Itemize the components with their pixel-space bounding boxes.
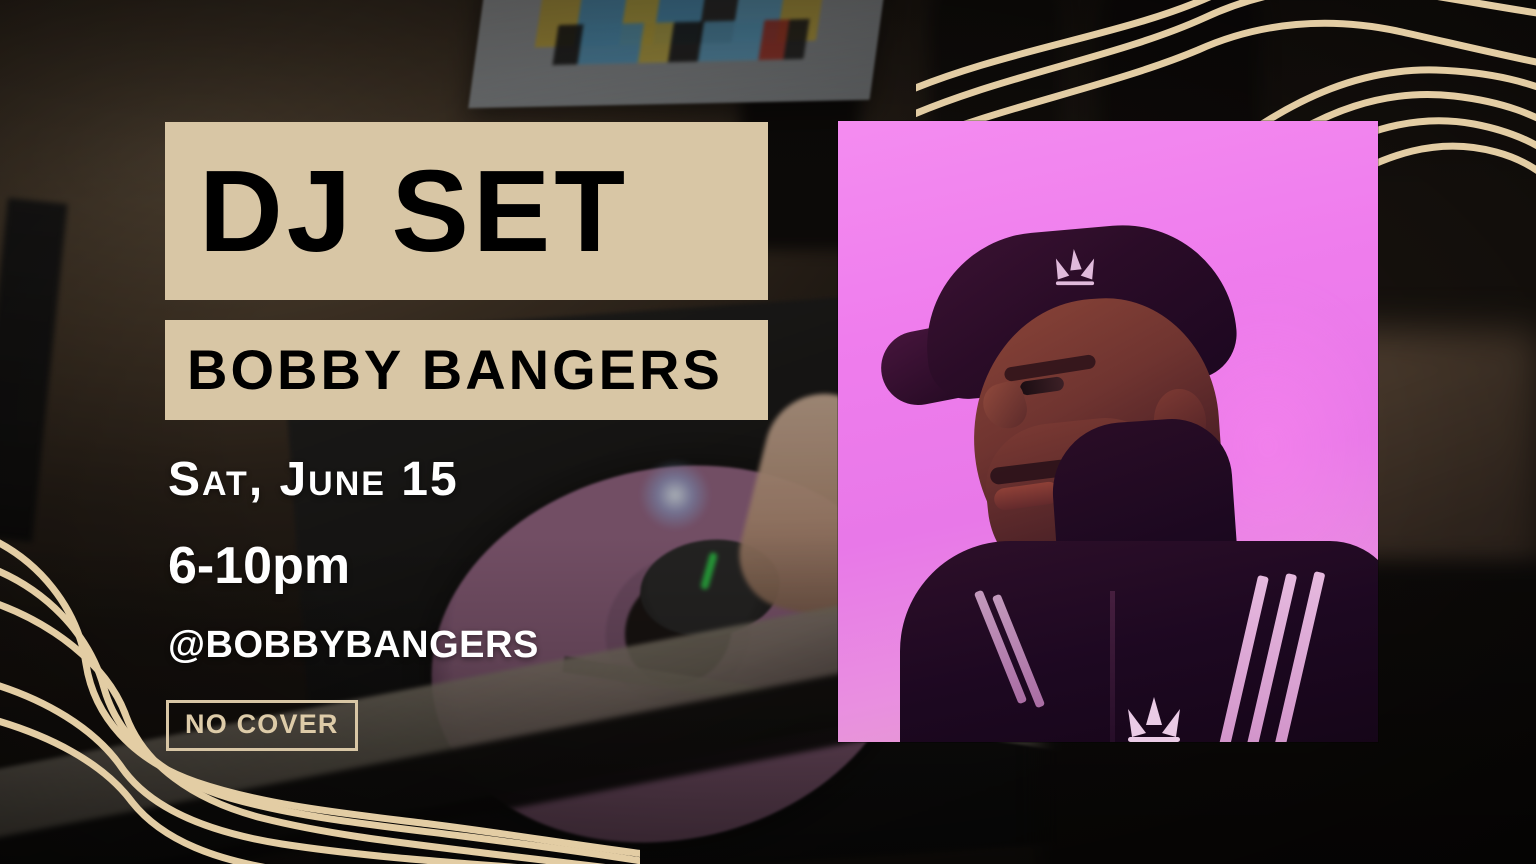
event-time: 6-10pm [168, 536, 350, 596]
dj-portrait-photo: adidas [838, 121, 1378, 742]
artist-name: BOBBY BANGERS [165, 342, 723, 398]
trefoil-logo-icon [1118, 695, 1190, 742]
brand-wordmark: adidas [1120, 741, 1210, 742]
trefoil-logo-icon [1046, 247, 1104, 289]
title-banner: DJ SET [165, 122, 768, 300]
subtitle-banner: BOBBY BANGERS [165, 320, 768, 420]
social-handle: @BOBBYBANGERS [168, 624, 539, 667]
jacket-zipper [1110, 591, 1115, 742]
dj-set-poster: adidas DJ SET BOBBY BANGERS Sat, June 15… [0, 0, 1536, 864]
status-badge: NO COVER [166, 700, 358, 751]
page-title: DJ SET [165, 153, 629, 269]
event-date: Sat, June 15 [168, 452, 459, 507]
